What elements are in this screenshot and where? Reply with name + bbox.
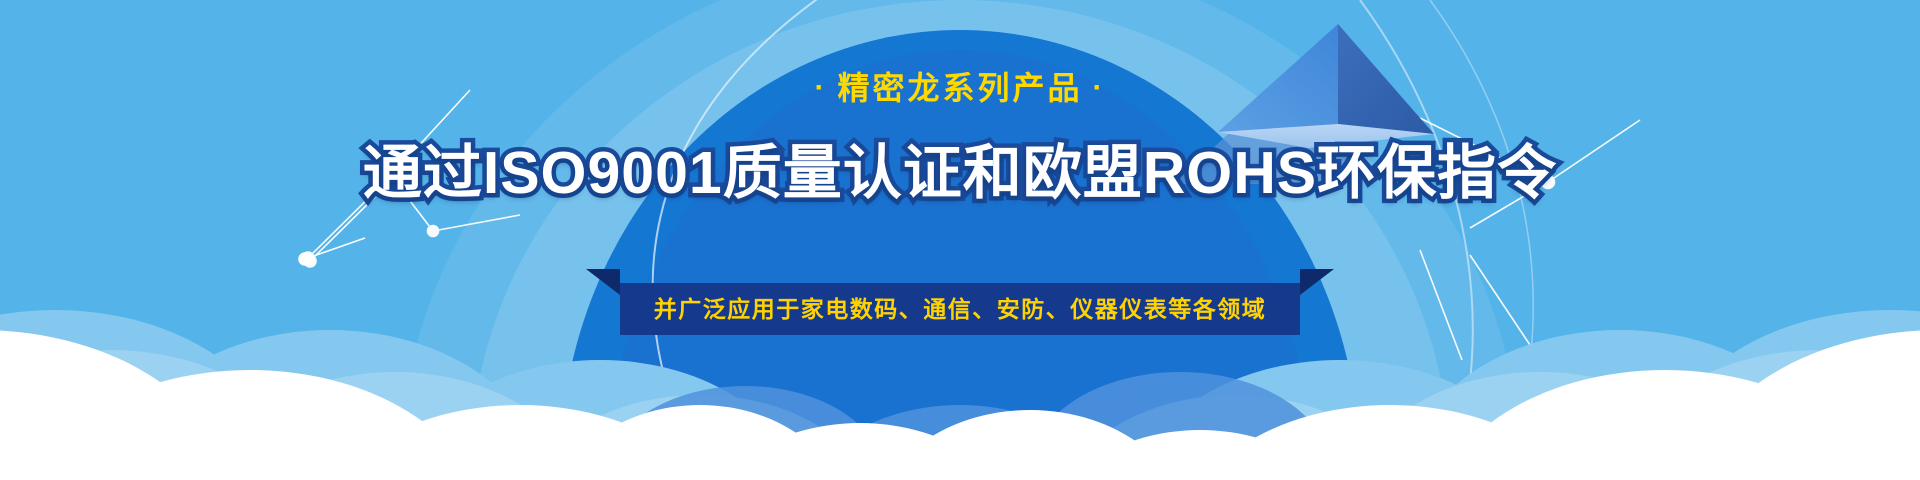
ribbon-text: 并广泛应用于家电数码、通信、安防、仪器仪表等各领域 [620,283,1300,335]
ribbon-fold-right [1300,269,1334,295]
banner-eyebrow: ·精密龙系列产品· [0,72,1920,106]
eyebrow-right-dot-icon: · [1083,73,1116,103]
eyebrow-text: 精密龙系列产品 [837,70,1082,106]
promo-banner: ·精密龙系列产品· 通过ISO9001质量认证和欧盟ROHS环保指令 并广泛应用… [0,0,1920,480]
ribbon-fold-left [586,269,620,295]
banner-headline: 通过ISO9001质量认证和欧盟ROHS环保指令 [363,140,1557,208]
eyebrow-left-dot-icon: · [804,73,837,103]
banner-ribbon: 并广泛应用于家电数码、通信、安防、仪器仪表等各领域 [620,283,1300,335]
banner-headline-wrap: 通过ISO9001质量认证和欧盟ROHS环保指令 [0,140,1920,208]
